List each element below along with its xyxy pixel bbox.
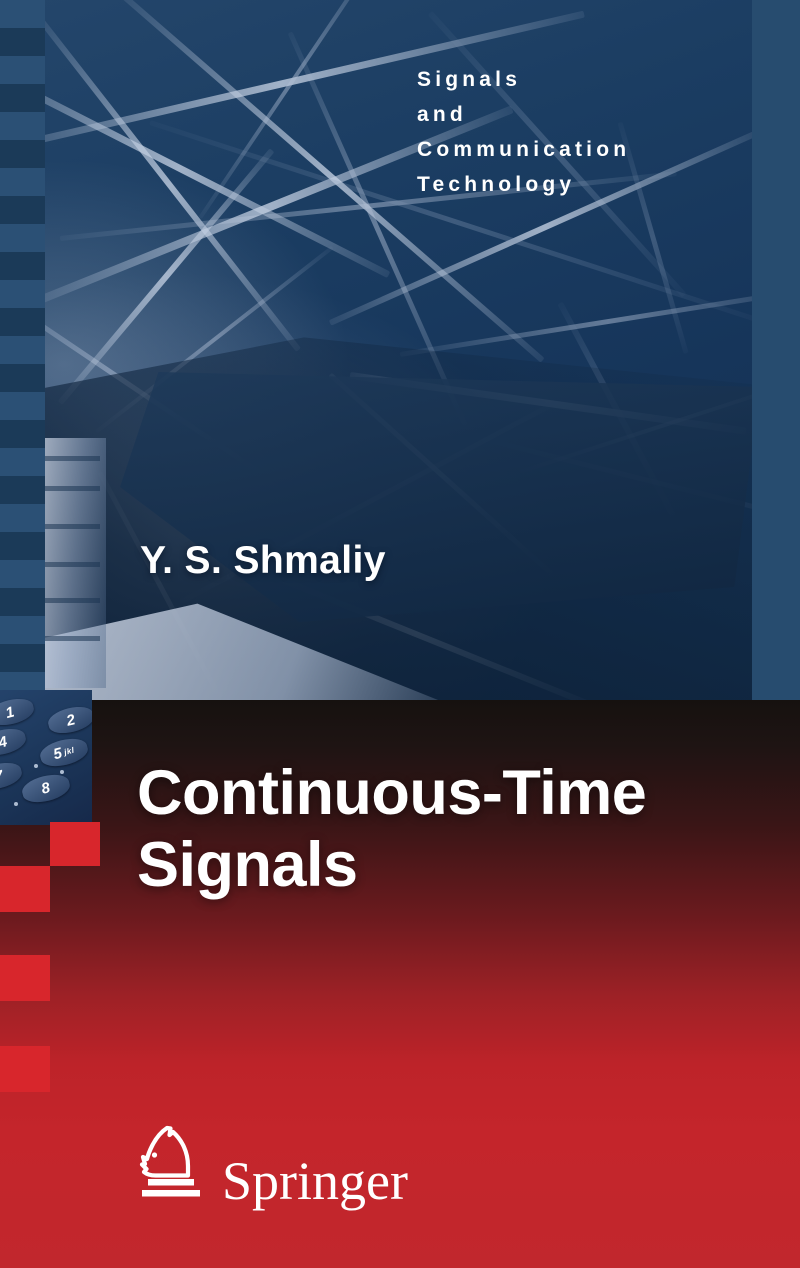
series-line-1: Signals — [417, 62, 757, 97]
key-digit: 7 — [0, 767, 5, 786]
key-digit: 4 — [0, 733, 9, 752]
springer-wordmark: Springer — [222, 1154, 408, 1208]
photo-right-band — [752, 0, 800, 700]
key-letters: jkl — [63, 746, 75, 757]
keypad-key-7: 7 — [0, 759, 24, 793]
accent-block-4 — [0, 1046, 50, 1092]
keypad-key-2: 2 — [46, 703, 92, 737]
book-cover: Signals and Communication Technology Y. … — [0, 0, 800, 1268]
series-line-4: Technology — [417, 167, 757, 202]
key-digit: 1 — [4, 703, 17, 722]
book-title: Continuous-Time Signals — [137, 757, 777, 901]
accent-block-3 — [0, 955, 50, 1001]
author-name: Y. S. Shmaliy — [140, 539, 386, 583]
key-digit: 2 — [65, 711, 78, 730]
publisher-logo: Springer — [134, 1122, 408, 1204]
springer-knight-icon — [134, 1122, 208, 1204]
keypad-key-8: 8 — [20, 771, 73, 807]
accent-block-2 — [0, 866, 50, 912]
title-line-2: Signals — [137, 829, 777, 901]
cover-photo-keypad: 1 2 4 5 jkl 7 8 — [0, 690, 92, 825]
accent-block-1 — [50, 822, 100, 866]
keypad-key-5: 5 jkl — [38, 735, 91, 771]
left-stripe-column — [0, 0, 45, 700]
series-title: Signals and Communication Technology — [417, 62, 757, 202]
keypad-key-1: 1 — [0, 695, 36, 729]
series-line-2: and — [417, 97, 757, 132]
title-line-1: Continuous-Time — [137, 757, 777, 829]
series-line-3: Communication — [417, 132, 757, 167]
key-digit: 8 — [40, 779, 53, 798]
keypad-key-4: 4 — [0, 725, 28, 759]
